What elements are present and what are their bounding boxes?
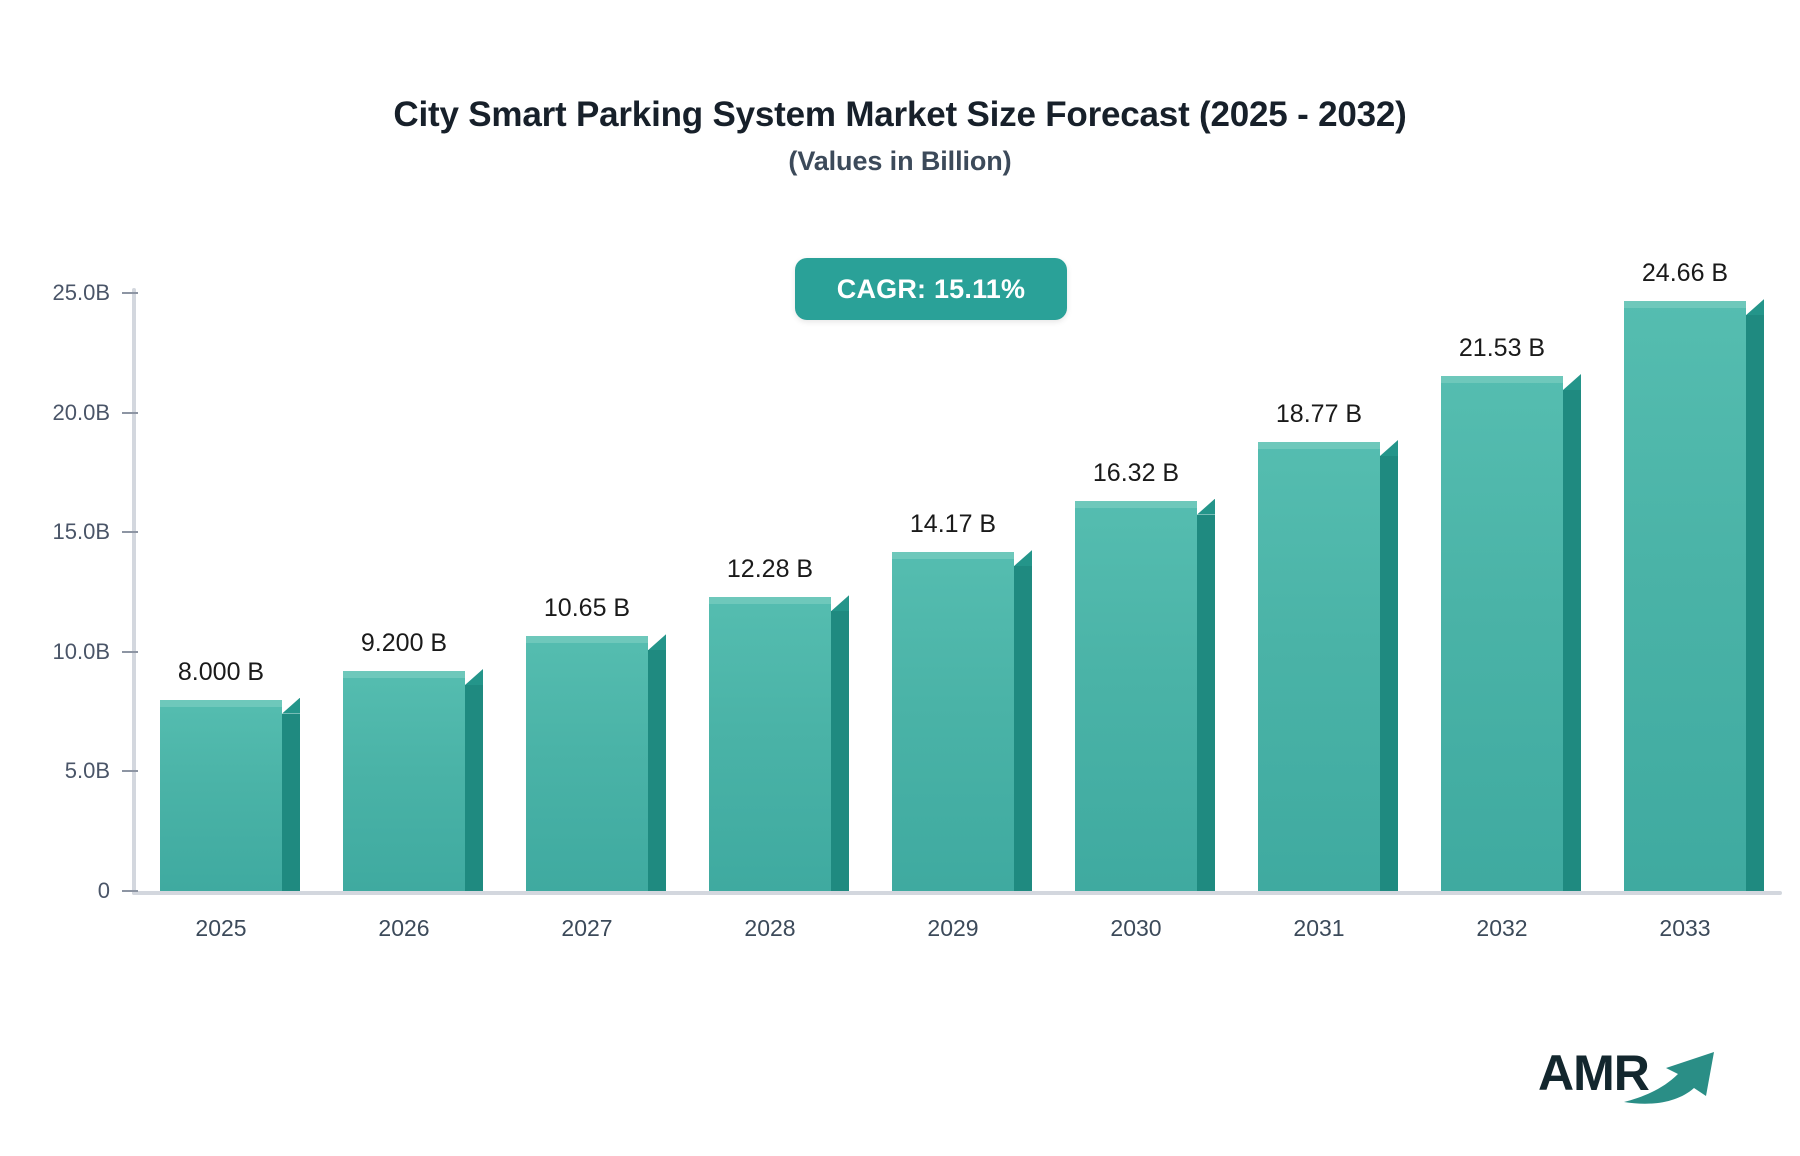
y-axis-line — [132, 288, 136, 895]
bar-top-face — [1441, 376, 1563, 383]
bar-front-face — [526, 636, 648, 891]
bar-side-bevel — [282, 698, 300, 714]
bar[interactable] — [1075, 501, 1197, 891]
bar-side-face — [1746, 315, 1764, 891]
y-axis-tick-label: 25.0B — [53, 280, 111, 306]
y-axis-tick-label: 0 — [98, 878, 110, 904]
x-axis-tick-label: 2030 — [1035, 915, 1237, 942]
bar-top-face — [1258, 442, 1380, 449]
bar-value-label: 21.53 B — [1401, 334, 1603, 363]
bar[interactable] — [1441, 376, 1563, 891]
bar-side-bevel — [831, 595, 849, 611]
bar[interactable] — [160, 700, 282, 891]
bar-top-face — [1624, 301, 1746, 308]
bar-side-bevel — [648, 634, 666, 650]
bar-top-face — [1075, 501, 1197, 508]
bar-front-face — [343, 671, 465, 891]
x-axis-tick-label: 2032 — [1401, 915, 1603, 942]
y-axis-tick: 15.0B — [0, 522, 138, 542]
bar-side-bevel — [465, 669, 483, 685]
chart-canvas: City Smart Parking System Market Size Fo… — [0, 0, 1800, 1156]
x-axis-tick-label: 2026 — [303, 915, 505, 942]
bar-front-face — [1624, 301, 1746, 891]
amr-logo: AMR — [1538, 1042, 1728, 1112]
growth-arrow-icon — [1622, 1046, 1728, 1106]
bar[interactable] — [1624, 301, 1746, 891]
bar-side-face — [1563, 390, 1581, 891]
bar-side-face — [465, 685, 483, 891]
bar-front-face — [1075, 501, 1197, 891]
bar-front-face — [709, 597, 831, 891]
y-axis-tick: 5.0B — [0, 761, 138, 781]
bar[interactable] — [709, 597, 831, 891]
y-axis-tick-mark — [122, 292, 138, 294]
x-axis-tick-label: 2033 — [1584, 915, 1786, 942]
bar-side-bevel — [1563, 374, 1581, 390]
bar-front-face — [1441, 376, 1563, 891]
x-axis-tick-label: 2029 — [852, 915, 1054, 942]
bar-value-label: 14.17 B — [852, 510, 1054, 539]
bar-value-label: 24.66 B — [1584, 259, 1786, 288]
bar-value-label: 8.000 B — [120, 658, 322, 687]
y-axis-tick-label: 15.0B — [53, 519, 111, 545]
y-axis-tick: 25.0B — [0, 283, 138, 303]
y-axis-tick-mark — [122, 890, 138, 892]
x-axis-tick-label: 2031 — [1218, 915, 1420, 942]
bar-value-label: 16.32 B — [1035, 459, 1237, 488]
bar-side-face — [831, 611, 849, 891]
bar-top-face — [892, 552, 1014, 559]
bar-front-face — [1258, 442, 1380, 891]
y-axis-tick-label: 20.0B — [53, 400, 111, 426]
bar[interactable] — [1258, 442, 1380, 891]
x-axis-line — [132, 891, 1782, 895]
y-axis-tick-mark — [122, 531, 138, 533]
x-axis-tick-label: 2028 — [669, 915, 871, 942]
bar-top-face — [343, 671, 465, 678]
y-axis-tick-label: 5.0B — [65, 758, 110, 784]
bar-side-bevel — [1014, 550, 1032, 566]
bar[interactable] — [892, 552, 1014, 891]
bar-value-label: 12.28 B — [669, 555, 871, 584]
bar-side-face — [1014, 566, 1032, 891]
bar-side-bevel — [1197, 499, 1215, 515]
y-axis-tick-label: 10.0B — [53, 639, 111, 665]
bar[interactable] — [526, 636, 648, 891]
bar-side-bevel — [1746, 299, 1764, 315]
y-axis-tick-mark — [122, 651, 138, 653]
bar-side-face — [1380, 456, 1398, 891]
bar-top-face — [709, 597, 831, 604]
bar-side-face — [648, 650, 666, 891]
plot-area: 25.0B20.0B15.0B10.0B5.0B0 8.000 B9.200 B… — [0, 0, 1800, 1156]
bar-side-face — [1197, 515, 1215, 891]
x-axis-tick-label: 2025 — [120, 915, 322, 942]
y-axis-tick-mark — [122, 770, 138, 772]
bar-value-label: 9.200 B — [303, 629, 505, 658]
y-axis-tick: 20.0B — [0, 403, 138, 423]
bar-front-face — [160, 700, 282, 891]
bar-top-face — [526, 636, 648, 643]
bar-front-face — [892, 552, 1014, 891]
y-axis-tick-mark — [122, 412, 138, 414]
bar-side-face — [282, 714, 300, 891]
bar-value-label: 10.65 B — [486, 594, 688, 623]
bar[interactable] — [343, 671, 465, 891]
y-axis-tick: 10.0B — [0, 642, 138, 662]
y-axis-tick: 0 — [0, 881, 138, 901]
bar-top-face — [160, 700, 282, 707]
bar-side-bevel — [1380, 440, 1398, 456]
bar-value-label: 18.77 B — [1218, 400, 1420, 429]
x-axis-tick-label: 2027 — [486, 915, 688, 942]
